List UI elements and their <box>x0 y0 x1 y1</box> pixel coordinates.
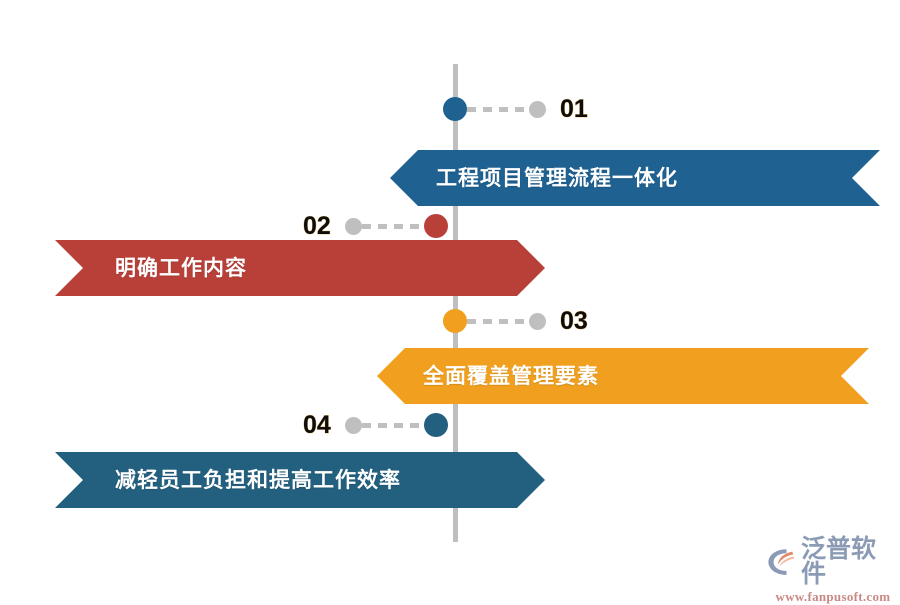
connector-01: 01 <box>443 96 588 122</box>
endpoint-dot-01 <box>529 101 546 118</box>
dashed-connector-02 <box>362 224 424 229</box>
step-number-03: 03 <box>560 309 588 334</box>
connector-02: 02 <box>303 213 448 239</box>
step-banner-label-01: 工程项目管理流程一体化 <box>390 168 678 189</box>
endpoint-dot-03 <box>529 313 546 330</box>
dashed-connector-04 <box>362 423 424 428</box>
logo-top-row: 泛普软件 <box>766 537 900 587</box>
step-number-02: 02 <box>303 214 331 239</box>
step-number-01: 01 <box>560 97 588 122</box>
logo-website-url: www.fanpusoft.com <box>776 589 891 605</box>
step-banner-label-02: 明确工作内容 <box>55 258 247 279</box>
step-banner-label-03: 全面覆盖管理要素 <box>377 366 599 387</box>
step-banner-03[interactable]: 全面覆盖管理要素 <box>377 348 869 404</box>
step-banner-02[interactable]: 明确工作内容 <box>55 240 545 296</box>
step-banner-label-04: 减轻员工负担和提高工作效率 <box>55 470 401 491</box>
connector-03: 03 <box>443 308 588 334</box>
dashed-connector-01 <box>467 107 529 112</box>
logo-brand-name: 泛普软件 <box>801 537 900 587</box>
timeline-dot-02 <box>424 214 448 238</box>
endpoint-dot-04 <box>345 417 362 434</box>
step-banner-01[interactable]: 工程项目管理流程一体化 <box>390 150 880 206</box>
timeline-dot-03 <box>443 309 467 333</box>
step-banner-04[interactable]: 减轻员工负担和提高工作效率 <box>55 452 545 508</box>
dashed-connector-03 <box>467 319 529 324</box>
brand-logo: 泛普软件 www.fanpusoft.com <box>766 537 900 605</box>
connector-04: 04 <box>303 412 448 438</box>
fanpu-logo-icon <box>766 547 800 577</box>
step-number-04: 04 <box>303 413 331 438</box>
endpoint-dot-02 <box>345 218 362 235</box>
timeline-dot-01 <box>443 97 467 121</box>
infographic-canvas: 01 工程项目管理流程一体化 02 明确工作内容 03 全面覆盖管理要素 04 … <box>0 0 900 600</box>
timeline-dot-04 <box>424 413 448 437</box>
